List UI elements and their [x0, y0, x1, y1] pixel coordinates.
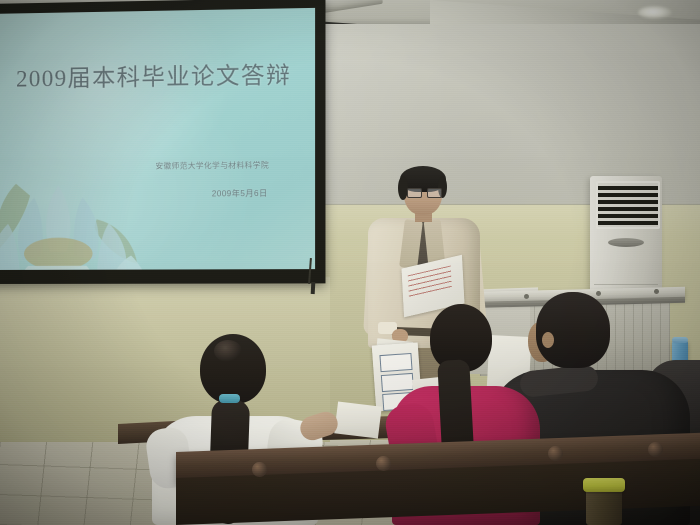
girl-hair-highlight	[214, 340, 242, 362]
hair-tie	[219, 394, 240, 403]
projection-screen: 2009届本科毕业论文答辩 安徽师范大学化学与材料科学院 2009年5月6日	[0, 0, 325, 284]
lotus-flower-icon	[0, 122, 178, 270]
paper-text-lines	[408, 266, 452, 298]
slide-date: 2009年5月6日	[212, 188, 268, 200]
ceiling-light-icon	[638, 6, 672, 19]
slide-surface: 2009届本科毕业论文答辩 安徽师范大学化学与材料科学院 2009年5月6日	[0, 8, 315, 270]
bench-knob	[648, 442, 663, 457]
dark-person-hair	[536, 292, 610, 368]
desk-paper-sheet	[334, 401, 382, 438]
classroom-photo: Boshidun	[0, 0, 700, 525]
air-conditioner-logo	[608, 238, 644, 247]
glass-jar-cap	[583, 478, 625, 492]
bench-knob	[252, 462, 267, 477]
glasses-icon	[407, 188, 440, 196]
air-conditioner-grille-icon	[596, 181, 660, 229]
bench-knob	[548, 446, 563, 461]
bench-knob	[376, 456, 391, 471]
slide-subtitle: 安徽师范大学化学与材料科学院	[156, 159, 316, 172]
dark-person-ear	[542, 332, 554, 348]
screen-pull-handle[interactable]	[311, 282, 316, 294]
slide-title: 2009届本科毕业论文答辩	[16, 63, 312, 91]
air-conditioner-panel-seam	[594, 284, 658, 285]
